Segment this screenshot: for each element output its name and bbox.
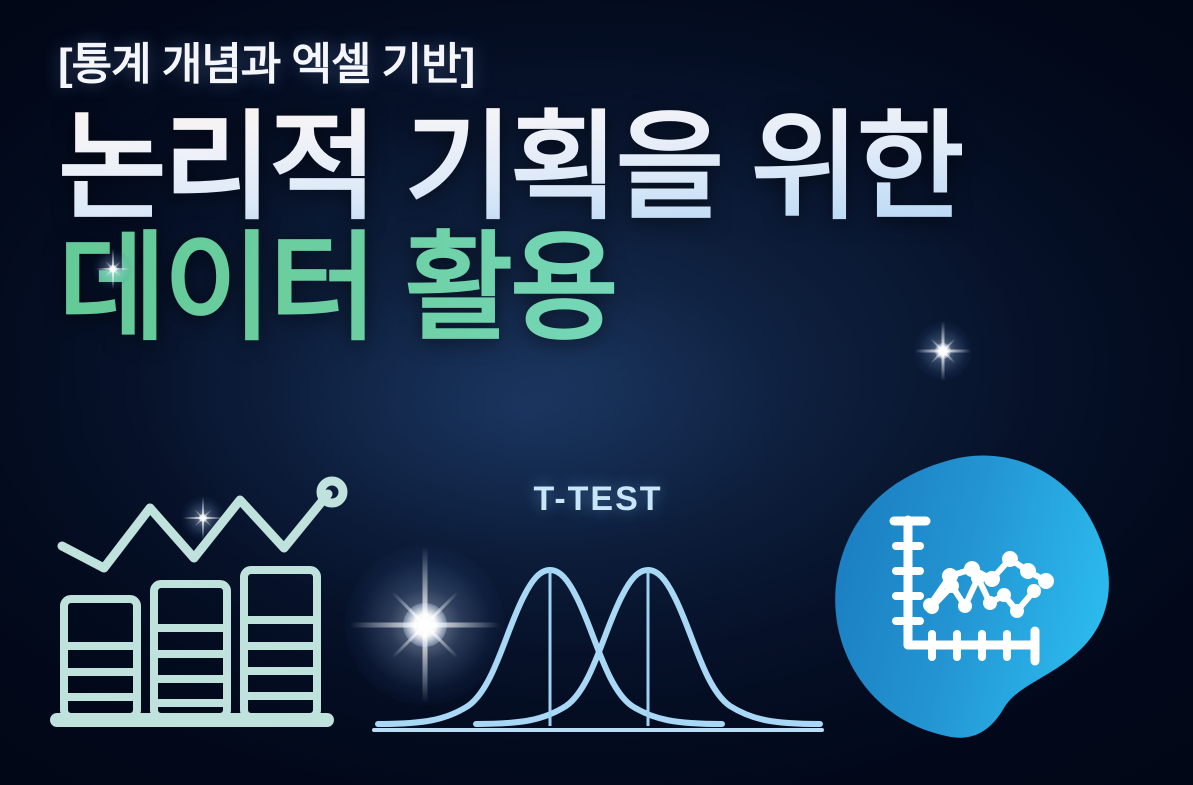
bar-chart-with-trend-line-icon (44, 470, 344, 740)
course-banner: [통계 개념과 엑셀 기반] 논리적 기획을 위한 데이터 활용 (0, 0, 1193, 785)
t-test-label: T-TEST (372, 480, 824, 519)
scatter-line-chart-blob-icon (832, 446, 1142, 746)
bar-chart-baseline (50, 713, 334, 727)
bar-chart-svg (44, 470, 344, 740)
headline-block: [통계 개념과 엑셀 기반] 논리적 기획을 위한 데이터 활용 (58, 42, 962, 354)
blob-svg (832, 446, 1142, 746)
bar-3 (244, 570, 317, 717)
banner-subtitle: [통계 개념과 엑셀 기반] (58, 42, 962, 89)
bar-1 (64, 599, 137, 717)
bell-curves-svg (372, 534, 824, 748)
trend-line (62, 494, 328, 568)
banner-title-line-1: 논리적 기획을 위한 (58, 105, 962, 232)
bar-2 (154, 584, 227, 717)
banner-title-line-2: 데이터 활용 (58, 226, 962, 353)
t-test-bell-curves-icon: T-TEST (372, 480, 824, 748)
